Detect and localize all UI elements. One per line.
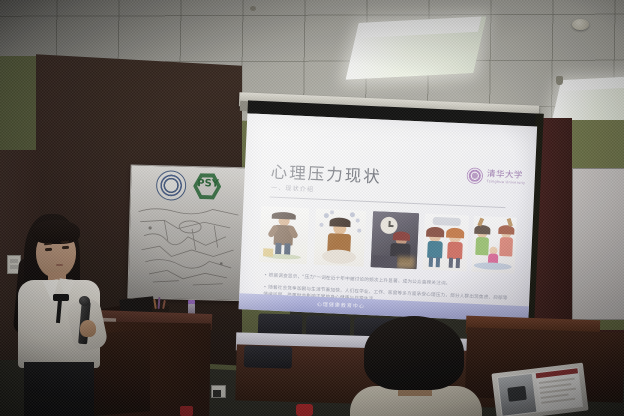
- illustration-person-holding-head: [259, 206, 309, 264]
- illustration-late-night-worker: [371, 211, 419, 269]
- illustration-family-group: [471, 216, 516, 274]
- title-divider: [270, 196, 506, 208]
- chair: [244, 345, 293, 368]
- presenter-lower-body: [24, 362, 94, 416]
- illustration-two-stressed-people: [423, 214, 469, 272]
- whiteboard-right: [572, 168, 624, 320]
- laptop-thumbnail: [507, 386, 527, 402]
- presenter: [10, 212, 122, 416]
- tsinghua-logo: 清华大学 Tsinghua University: [466, 166, 529, 191]
- red-object: [180, 406, 193, 416]
- tsinghua-seal-icon: [466, 167, 483, 184]
- presentation-slide: 心理压力现状 一、现状介绍 清华大学 Tsinghua University: [239, 113, 538, 322]
- illustration-row: [259, 206, 517, 274]
- presenter-eye: [62, 246, 69, 249]
- projection-screen: 心理压力现状 一、现状介绍 清华大学 Tsinghua University: [238, 100, 543, 328]
- audience-member: [356, 316, 472, 416]
- slide-subtitle: 一、现状介绍: [271, 183, 315, 194]
- power-plug: [213, 390, 221, 397]
- presenter-mouth: [56, 264, 63, 266]
- presenter-eye: [45, 248, 52, 251]
- presenter-fringe: [32, 220, 80, 244]
- classroom-presentation-photo: PSY 心理压力现状 一、现状介绍: [0, 0, 624, 416]
- attendee-hair: [364, 316, 464, 390]
- illustration-worried-person: [314, 209, 366, 267]
- presenter-hand: [80, 320, 96, 337]
- red-object: [296, 404, 313, 416]
- logo-subtitle-label: Tsinghua University: [487, 179, 526, 185]
- bottle-cap: [188, 300, 195, 304]
